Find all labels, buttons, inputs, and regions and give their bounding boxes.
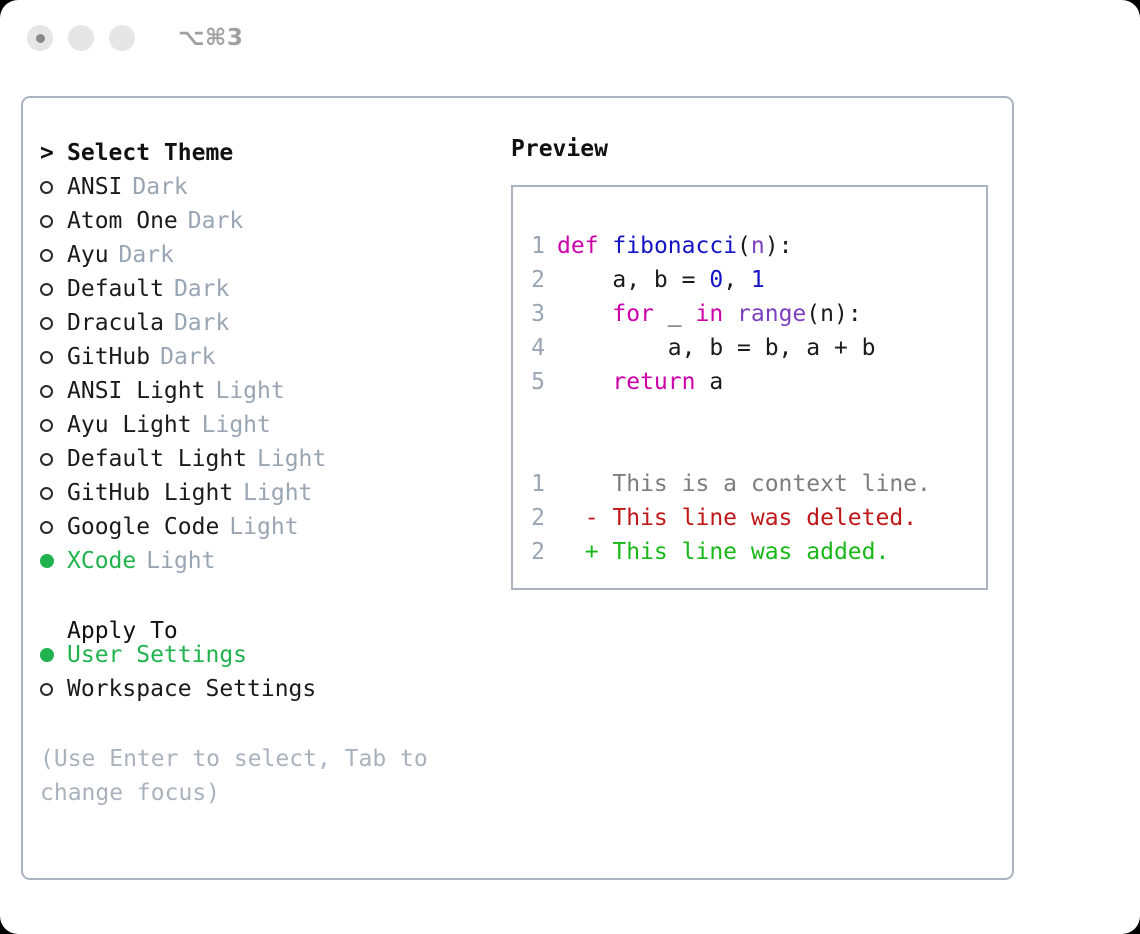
code-token xyxy=(557,301,612,327)
theme-item-label: Default xyxy=(67,272,164,306)
diff-sample: 1 This is a context line.2 - This line w… xyxy=(513,467,986,569)
code-token: (n): xyxy=(806,301,861,327)
code-line-number: 5 xyxy=(513,365,557,399)
bullet-shape xyxy=(40,521,53,534)
diff-line: 1 This is a context line. xyxy=(513,467,986,501)
code-token: in xyxy=(695,301,723,327)
radio-unselected-icon[interactable] xyxy=(40,239,67,273)
apply-to-item-label: User Settings xyxy=(67,638,247,672)
apply-to-item[interactable]: User Settings xyxy=(40,638,485,672)
diff-line: 2 + This line was added. xyxy=(513,535,986,569)
radio-unselected-icon[interactable] xyxy=(40,341,67,375)
code-token: def xyxy=(557,233,599,259)
code-token: ( xyxy=(737,233,751,259)
preview-box: 1def fibonacci(n):2 a, b = 0, 13 for _ i… xyxy=(511,185,988,590)
code-token: return xyxy=(612,369,695,395)
title-bar: ⌥⌘3 xyxy=(0,0,1140,76)
bullet-shape xyxy=(40,385,53,398)
bullet-shape xyxy=(40,283,53,296)
preview-column: Preview 1def fibonacci(n):2 a, b = 0, 13… xyxy=(485,98,1012,878)
code-token: 0 xyxy=(709,267,723,293)
radio-unselected-icon[interactable] xyxy=(40,673,67,707)
diff-line-text: This is a context line. xyxy=(612,467,931,501)
theme-item-label: XCode xyxy=(67,544,136,578)
code-line-text: a, b = 0, 1 xyxy=(557,263,765,297)
window-dot-icon[interactable] xyxy=(68,25,94,51)
code-line-number: 1 xyxy=(513,229,557,263)
radio-unselected-icon[interactable] xyxy=(40,375,67,409)
theme-item[interactable]: AyuDark xyxy=(40,238,485,272)
theme-item[interactable]: DefaultDark xyxy=(40,272,485,306)
theme-selection-column: > Select Theme ANSIDarkAtom OneDarkAyuDa… xyxy=(23,98,485,878)
theme-item-label: Dracula xyxy=(67,306,164,340)
code-token: a xyxy=(695,369,723,395)
bullet-shape xyxy=(40,648,54,662)
theme-item-tag: Dark xyxy=(174,272,229,306)
code-line-number: 2 xyxy=(513,263,557,297)
radio-unselected-icon[interactable] xyxy=(40,205,67,239)
caret-icon: > xyxy=(40,137,67,171)
bullet-shape xyxy=(40,317,53,330)
spacer xyxy=(40,706,485,742)
code-token: , xyxy=(723,267,751,293)
code-token: a, b = b, a + b xyxy=(557,335,876,361)
apply-to-list[interactable]: User SettingsWorkspace Settings xyxy=(40,638,485,706)
theme-item-label: ANSI Light xyxy=(67,374,205,408)
spacer xyxy=(513,399,986,433)
theme-item-label: Ayu xyxy=(67,238,109,272)
diff-line: 2 - This line was deleted. xyxy=(513,501,986,535)
code-token: 1 xyxy=(751,267,765,293)
radio-unselected-icon[interactable] xyxy=(40,477,67,511)
theme-item[interactable]: Atom OneDark xyxy=(40,204,485,238)
theme-item[interactable]: Google CodeLight xyxy=(40,510,485,544)
theme-item-tag: Dark xyxy=(174,306,229,340)
code-token xyxy=(557,369,612,395)
theme-item[interactable]: GitHubDark xyxy=(40,340,485,374)
code-line-number: 4 xyxy=(513,331,557,365)
radio-unselected-icon[interactable] xyxy=(40,307,67,341)
marker-placeholder xyxy=(40,604,67,638)
theme-item-tag: Dark xyxy=(132,170,187,204)
diff-line-number: 2 xyxy=(513,501,557,535)
code-line-text: def fibonacci(n): xyxy=(557,229,792,263)
theme-item-tag: Light xyxy=(146,544,215,578)
theme-item-tag: Light xyxy=(243,476,312,510)
radio-unselected-icon[interactable] xyxy=(40,511,67,545)
diff-marker: + xyxy=(557,535,612,569)
theme-item-tag: Dark xyxy=(119,238,174,272)
code-token: range xyxy=(737,301,806,327)
spacer xyxy=(40,578,485,604)
theme-item-label: ANSI xyxy=(67,170,122,204)
hint-text: (Use Enter to select, Tab to change focu… xyxy=(40,742,445,810)
bullet-shape xyxy=(40,419,53,432)
code-token: _ xyxy=(654,301,696,327)
select-theme-heading: Select Theme xyxy=(67,136,233,170)
code-line: 4 a, b = b, a + b xyxy=(513,331,986,365)
diff-marker xyxy=(557,467,612,501)
diff-line-text: This line was deleted. xyxy=(612,501,917,535)
theme-item-tag: Light xyxy=(229,510,298,544)
window-dot-active-icon[interactable] xyxy=(27,25,53,51)
bullet-shape xyxy=(40,215,53,228)
theme-item-label: Ayu Light xyxy=(67,408,192,442)
bullet-shape xyxy=(40,453,53,466)
code-token: n xyxy=(751,233,765,259)
panel-body: > Select Theme ANSIDarkAtom OneDarkAyuDa… xyxy=(23,98,1012,878)
code-line-text: return a xyxy=(557,365,723,399)
theme-item[interactable]: Ayu LightLight xyxy=(40,408,485,442)
code-line: 5 return a xyxy=(513,365,986,399)
code-line: 3 for _ in range(n): xyxy=(513,297,986,331)
theme-item[interactable]: ANSI LightLight xyxy=(40,374,485,408)
keyboard-shortcut-label: ⌥⌘3 xyxy=(178,25,243,51)
apply-to-item-label: Workspace Settings xyxy=(67,672,316,706)
code-line-number: 3 xyxy=(513,297,557,331)
apply-to-heading-row: Apply To xyxy=(40,604,485,638)
bullet-shape xyxy=(40,249,53,262)
spacer xyxy=(513,433,986,467)
radio-selected-icon[interactable] xyxy=(40,638,67,672)
select-theme-heading-row: > Select Theme xyxy=(40,136,485,170)
preview-heading: Preview xyxy=(511,136,1012,162)
theme-item-label: Default Light xyxy=(67,442,247,476)
theme-item-tag: Light xyxy=(215,374,284,408)
radio-unselected-icon[interactable] xyxy=(40,443,67,477)
theme-item[interactable]: GitHub LightLight xyxy=(40,476,485,510)
theme-item[interactable]: DraculaDark xyxy=(40,306,485,340)
theme-list[interactable]: ANSIDarkAtom OneDarkAyuDarkDefaultDarkDr… xyxy=(40,170,485,578)
apply-to-item[interactable]: Workspace Settings xyxy=(40,672,485,706)
diff-line-number: 1 xyxy=(513,467,557,501)
window-dot-icon[interactable] xyxy=(109,25,135,51)
code-token: for xyxy=(612,301,654,327)
theme-item-tag: Light xyxy=(257,442,326,476)
theme-item-label: Google Code xyxy=(67,510,219,544)
diff-line-text: This line was added. xyxy=(612,535,889,569)
theme-item-tag: Light xyxy=(202,408,271,442)
code-token xyxy=(723,301,737,327)
main-panel: > Select Theme ANSIDarkAtom OneDarkAyuDa… xyxy=(21,96,1014,880)
radio-unselected-icon[interactable] xyxy=(40,171,67,205)
theme-item[interactable]: ANSIDark xyxy=(40,170,485,204)
theme-item[interactable]: Default LightLight xyxy=(40,442,485,476)
code-line-text: a, b = b, a + b xyxy=(557,331,876,365)
code-token: a, b = xyxy=(557,267,709,293)
theme-item-label: GitHub Light xyxy=(67,476,233,510)
app-root: ⌥⌘3 > Select Theme ANSIDarkAtom OneDarkA… xyxy=(0,0,1140,934)
code-line: 2 a, b = 0, 1 xyxy=(513,263,986,297)
code-token xyxy=(599,233,613,259)
code-sample: 1def fibonacci(n):2 a, b = 0, 13 for _ i… xyxy=(513,229,986,399)
diff-marker: - xyxy=(557,501,612,535)
bullet-shape xyxy=(40,487,53,500)
code-line-text: for _ in range(n): xyxy=(557,297,862,331)
bullet-shape xyxy=(40,351,53,364)
code-token: fibonacci xyxy=(612,233,737,259)
theme-item-tag: Dark xyxy=(160,340,215,374)
radio-selected-icon[interactable] xyxy=(40,544,67,578)
theme-item-label: GitHub xyxy=(67,340,150,374)
bullet-shape xyxy=(40,683,53,696)
theme-item[interactable]: XCodeLight xyxy=(40,544,485,578)
radio-unselected-icon[interactable] xyxy=(40,273,67,307)
code-token: ): xyxy=(765,233,793,259)
bullet-shape xyxy=(40,181,53,194)
theme-item-label: Atom One xyxy=(67,204,178,238)
theme-item-tag: Dark xyxy=(188,204,243,238)
diff-line-number: 2 xyxy=(513,535,557,569)
radio-unselected-icon[interactable] xyxy=(40,409,67,443)
code-line: 1def fibonacci(n): xyxy=(513,229,986,263)
bullet-shape xyxy=(40,554,54,568)
